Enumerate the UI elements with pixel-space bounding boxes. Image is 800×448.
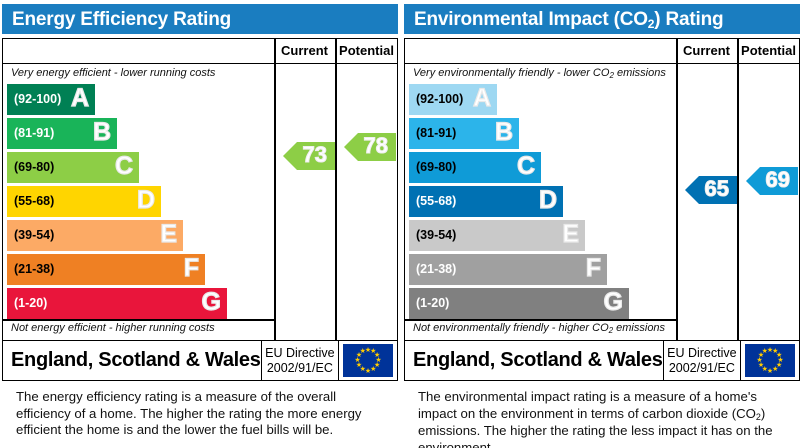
eu-flag-cell-left: ★★★★★★★★★★★★ — [338, 341, 397, 380]
potential-rating-value-right: 69 — [766, 169, 790, 193]
energy-efficiency-panel: Energy Efficiency Rating Current Potenti… — [2, 0, 398, 448]
eu-flag-icon: ★★★★★★★★★★★★ — [745, 344, 795, 377]
arrow-head — [685, 176, 699, 204]
eu-flag-cell-right: ★★★★★★★★★★★★ — [740, 341, 799, 380]
page-title-right-sub: 2 — [648, 17, 654, 31]
potential-rating-arrow-right: 69 — [746, 167, 798, 195]
description-left: The energy efficiency rating is a measur… — [2, 389, 398, 439]
band-bar-f-left: (21-38) F — [7, 254, 205, 285]
band-range-label: (69-80) — [14, 161, 54, 174]
band-range-label: (92-100) — [416, 93, 463, 106]
band-bar-f-right: (21-38) F — [409, 254, 607, 285]
band-row: (21-38) F — [405, 254, 676, 286]
band-letter-label: B — [489, 120, 513, 147]
band-letter-label: G — [598, 290, 623, 317]
footer-right: England, Scotland & Wales EU Directive 2… — [404, 341, 800, 381]
environmental-impact-panel: Environmental Impact (CO2) Rating Curren… — [404, 0, 800, 448]
arrow-head — [283, 142, 297, 170]
band-row: (21-38) F — [3, 254, 274, 286]
band-bar-a-left: (92-100) A — [7, 84, 95, 115]
footer-directive-left: EU Directive 2002/91/EC — [261, 341, 339, 380]
band-row: (92-100) A — [3, 84, 274, 116]
epc-chart-page: Energy Efficiency Rating Current Potenti… — [0, 0, 800, 448]
arrow-head — [344, 133, 358, 161]
page-title-left: Energy Efficiency Rating — [12, 10, 231, 29]
band-letter-label: C — [511, 154, 535, 181]
bottom-caption-right-sub: 2 — [609, 326, 613, 335]
band-range-label: (92-100) — [14, 93, 61, 106]
band-range-label: (55-68) — [416, 195, 456, 208]
current-rating-value-right: 65 — [705, 178, 729, 202]
band-bar-d-right: (55-68) D — [409, 186, 563, 217]
band-letter-label: F — [580, 256, 601, 283]
column-divider-current-right — [676, 39, 678, 340]
column-header-potential-right: Potential — [738, 43, 799, 58]
page-title-right-tail: ) Rating — [654, 9, 723, 30]
environmental-impact-chart: Current Potential Very environmentally f… — [404, 38, 800, 341]
caption-separator-left — [3, 319, 274, 321]
environmental-impact-title-bar: Environmental Impact (CO2) Rating — [404, 4, 800, 34]
energy-efficiency-title-bar: Energy Efficiency Rating — [2, 4, 398, 34]
band-bar-d-left: (55-68) D — [7, 186, 161, 217]
column-divider-potential-left — [335, 39, 337, 340]
column-divider-current-left — [274, 39, 276, 340]
eu-flag-icon: ★★★★★★★★★★★★ — [343, 344, 393, 377]
band-row: (39-54) E — [3, 220, 274, 252]
band-bars-right: (92-100) A (81-91) B (69-80) C — [405, 84, 676, 322]
band-row: (92-100) A — [405, 84, 676, 116]
band-row: (39-54) E — [405, 220, 676, 252]
band-bar-a-right: (92-100) A — [409, 84, 497, 115]
column-divider-potential-right — [737, 39, 739, 340]
eu-star-icon: ★ — [359, 348, 366, 355]
band-letter-label: D — [533, 188, 557, 215]
description-right-sub: 2 — [756, 412, 761, 422]
band-row: (69-80) C — [3, 152, 274, 184]
top-caption-left: Very energy efficient - lower running co… — [11, 67, 215, 79]
band-bar-c-right: (69-80) C — [409, 152, 541, 183]
band-letter-label: E — [154, 222, 177, 249]
band-row: (1-20) G — [3, 288, 274, 320]
band-range-label: (39-54) — [416, 229, 456, 242]
band-range-label: (39-54) — [14, 229, 54, 242]
band-row: (81-91) B — [405, 118, 676, 150]
band-range-label: (1-20) — [416, 297, 449, 310]
band-range-label: (81-91) — [14, 127, 54, 140]
eu-star-icon: ★ — [761, 348, 768, 355]
footer-directive-right: EU Directive 2002/91/EC — [663, 341, 741, 380]
band-range-label: (21-38) — [14, 263, 54, 276]
band-range-label: (81-91) — [416, 127, 456, 140]
band-range-label: (1-20) — [14, 297, 47, 310]
bottom-caption-right: Not environmentally friendly - higher CO… — [413, 322, 665, 334]
page-title-right: Environmental Impact (CO2) Rating — [414, 10, 723, 29]
top-caption-right: Very environmentally friendly - lower CO… — [413, 67, 666, 79]
directive-line-2: 2002/91/EC — [267, 361, 333, 375]
band-range-label: (55-68) — [14, 195, 54, 208]
footer-country-left: England, Scotland & Wales — [3, 341, 261, 380]
band-range-label: (21-38) — [416, 263, 456, 276]
footer-country-right: England, Scotland & Wales — [405, 341, 663, 380]
directive-line-2: 2002/91/EC — [669, 361, 735, 375]
band-row: (55-68) D — [405, 186, 676, 218]
column-header-potential-left: Potential — [336, 43, 397, 58]
column-header-current-right: Current — [676, 43, 737, 58]
band-row: (55-68) D — [3, 186, 274, 218]
bottom-caption-right-pre: Not environmentally friendly - higher CO — [413, 322, 609, 334]
directive-line-1: EU Directive — [667, 346, 736, 360]
band-row: (1-20) G — [405, 288, 676, 320]
band-letter-label: A — [467, 86, 491, 113]
band-letter-label: A — [65, 86, 89, 113]
page-title-right-main: Environmental Impact (CO — [414, 9, 648, 30]
band-bar-g-left: (1-20) G — [7, 288, 227, 319]
description-right: The environmental impact rating is a mea… — [404, 389, 800, 448]
bottom-caption-left: Not energy efficient - higher running co… — [11, 322, 215, 334]
band-row: (69-80) C — [405, 152, 676, 184]
column-header-current-left: Current — [274, 43, 335, 58]
caption-separator-right — [405, 319, 676, 321]
band-letter-label: G — [196, 290, 221, 317]
band-bar-c-left: (69-80) C — [7, 152, 139, 183]
current-rating-arrow-left: 73 — [283, 142, 335, 170]
current-rating-arrow-right: 65 — [685, 176, 737, 204]
energy-efficiency-chart: Current Potential Very energy efficient … — [2, 38, 398, 341]
top-caption-right-post: emissions — [614, 67, 666, 79]
band-bar-e-left: (39-54) E — [7, 220, 183, 251]
potential-rating-value-left: 78 — [364, 135, 388, 159]
footer-left: England, Scotland & Wales EU Directive 2… — [2, 341, 398, 381]
band-letter-label: C — [109, 154, 133, 181]
current-rating-value-left: 73 — [303, 144, 327, 168]
band-bar-b-left: (81-91) B — [7, 118, 117, 149]
potential-rating-arrow-left: 78 — [344, 133, 396, 161]
band-bar-e-right: (39-54) E — [409, 220, 585, 251]
top-caption-right-sub: 2 — [609, 71, 613, 80]
arrow-head — [746, 167, 760, 195]
band-bar-g-right: (1-20) G — [409, 288, 629, 319]
description-right-pre: The environmental impact rating is a mea… — [418, 389, 757, 421]
band-bar-b-right: (81-91) B — [409, 118, 519, 149]
band-range-label: (69-80) — [416, 161, 456, 174]
bottom-caption-right-post: emissions — [613, 322, 665, 334]
directive-line-1: EU Directive — [265, 346, 334, 360]
band-bars-left: (92-100) A (81-91) B (69-80) C — [3, 84, 274, 322]
band-letter-label: B — [87, 120, 111, 147]
band-letter-label: D — [131, 188, 155, 215]
band-row: (81-91) B — [3, 118, 274, 150]
top-caption-right-pre: Very environmentally friendly - lower CO — [413, 67, 609, 79]
band-letter-label: E — [556, 222, 579, 249]
band-letter-label: F — [178, 256, 199, 283]
